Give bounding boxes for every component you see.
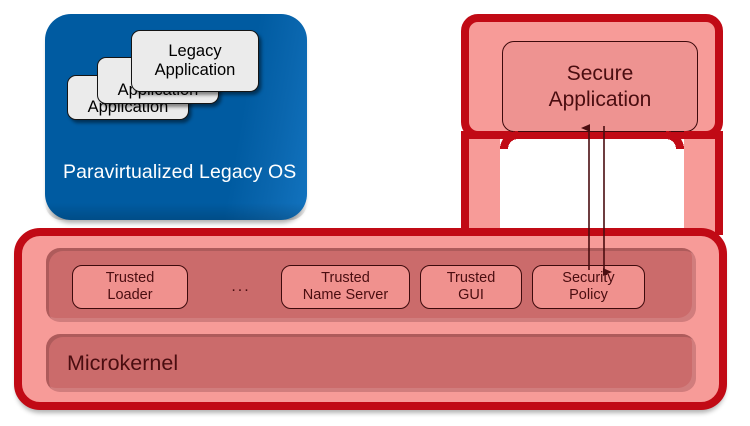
- service-label-line2: Loader: [107, 287, 152, 303]
- legacy-os-label: Paravirtualized Legacy OS: [63, 161, 296, 184]
- service-label-line1: Security: [562, 270, 614, 286]
- secure-shell-left-leg: [461, 131, 500, 235]
- service-box-security-policy: Security Policy: [532, 265, 645, 309]
- secure-shell-right-leg: [684, 131, 723, 235]
- legacy-application-box: Legacy Application: [131, 30, 259, 92]
- secure-application-line2: Application: [549, 88, 652, 111]
- service-box-trusted-gui: Trusted GUI: [420, 265, 522, 309]
- microkernel-label: Microkernel: [67, 351, 178, 376]
- microkernel-band: Microkernel: [46, 334, 696, 392]
- trusted-services-row: Trusted Loader ... Trusted Name Server T…: [46, 248, 696, 322]
- service-box-trusted-loader: Trusted Loader: [72, 265, 188, 309]
- secure-application-shell: Secure Application: [461, 14, 723, 139]
- services-ellipsis: ...: [221, 278, 261, 296]
- secure-application-line1: Secure: [567, 62, 634, 85]
- diagram-canvas: Paravirtualized Legacy OS Legacy Applica…: [0, 0, 750, 426]
- secure-application-box: Secure Application: [502, 41, 698, 132]
- secure-shell-left-underside: [469, 131, 500, 139]
- legacy-application-line1: Legacy: [155, 42, 236, 61]
- service-box-trusted-name-server: Trusted Name Server: [281, 265, 410, 309]
- service-label-line2: Name Server: [303, 287, 388, 303]
- trusted-services-band: Trusted Loader ... Trusted Name Server T…: [46, 248, 696, 322]
- service-label-line2: GUI: [458, 287, 484, 303]
- secure-shell-right-underside: [684, 131, 715, 139]
- legacy-application-line2: Application: [155, 61, 236, 80]
- service-label-line1: Trusted: [321, 270, 370, 286]
- service-label-line1: Trusted: [106, 270, 155, 286]
- service-label-line1: Trusted: [447, 270, 496, 286]
- trusted-platform-container: Trusted Loader ... Trusted Name Server T…: [14, 228, 727, 410]
- service-label-line2: Policy: [569, 287, 608, 303]
